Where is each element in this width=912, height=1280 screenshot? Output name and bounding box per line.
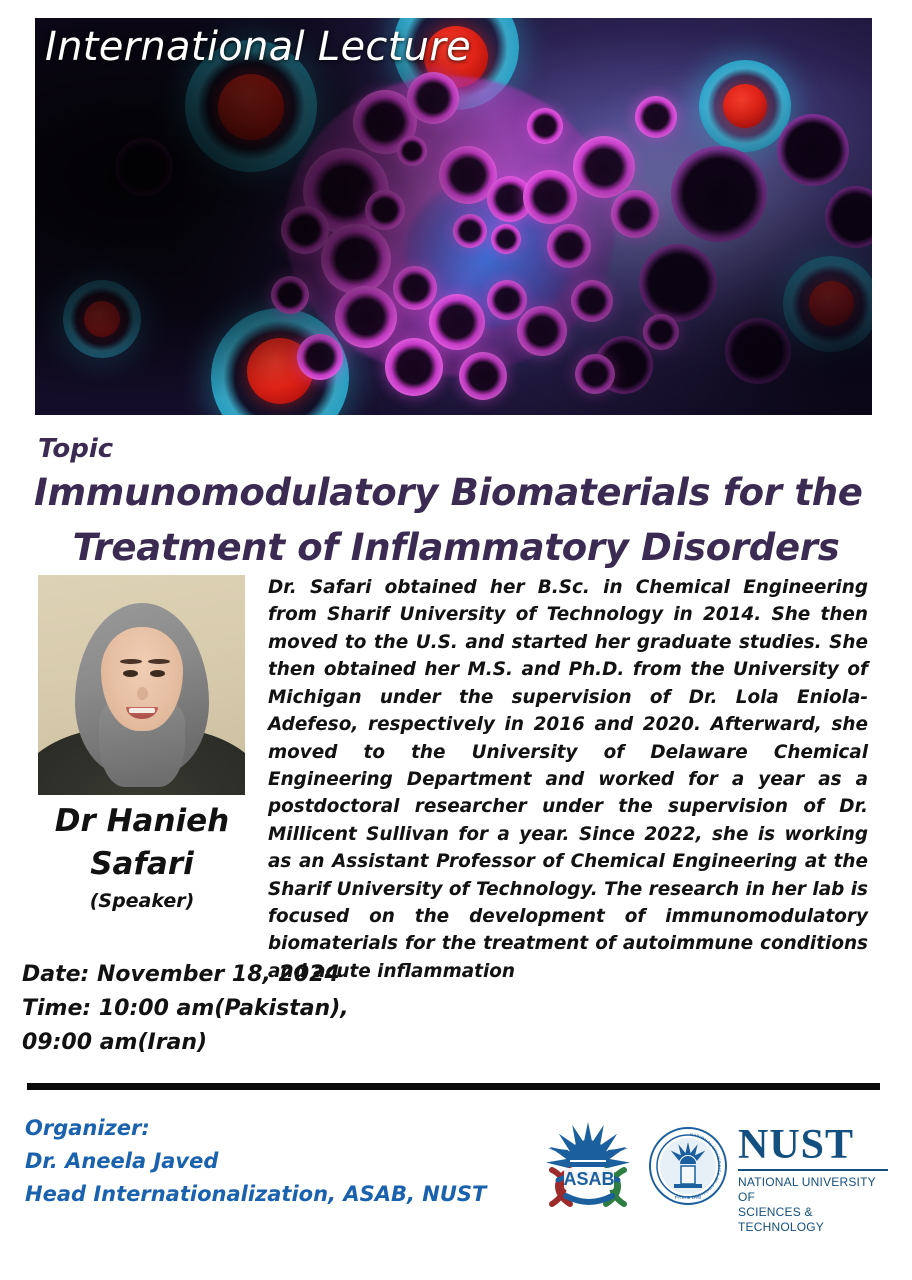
asab-logo-icon: ASAB bbox=[536, 1118, 640, 1212]
asab-logo-text: ASAB bbox=[563, 1169, 614, 1189]
schedule-time-line-1: Time: 10:00 am(Pakistan), bbox=[22, 992, 349, 1026]
schedule-block: Date: November 18, 2024 Time: 10:00 am(P… bbox=[22, 958, 349, 1060]
lecture-poster: International Lecture Topic Immunomodula… bbox=[0, 0, 912, 1280]
footer-divider bbox=[27, 1083, 880, 1090]
lecture-title-line-2: Treatment of Inflammatory Disorders bbox=[30, 521, 882, 576]
organizer-name: Dr. Aneela Javed bbox=[25, 1145, 486, 1178]
lecture-title-line-1: Immunomodulatory Biomaterials for the bbox=[30, 466, 882, 521]
speaker-bio: Dr. Safari obtained her B.Sc. in Chemica… bbox=[268, 574, 868, 985]
nust-seal-bottom-text: PAKISTAN bbox=[675, 1195, 702, 1200]
speaker-role: (Speaker) bbox=[18, 890, 266, 912]
nust-wordmark-subtitle: NATIONAL UNIVERSITY OF SCIENCES & TECHNO… bbox=[738, 1175, 890, 1235]
nust-subtitle-line-2: SCIENCES & TECHNOLOGY bbox=[738, 1205, 890, 1235]
nust-wordmark: NUST NATIONAL UNIVERSITY OF SCIENCES & T… bbox=[738, 1124, 890, 1206]
nust-wordmark-text: NUST bbox=[738, 1124, 890, 1166]
photo-eye-right bbox=[150, 670, 165, 677]
photo-eyebrow-left bbox=[120, 659, 142, 664]
topic-label: Topic bbox=[38, 434, 113, 464]
photo-eye-left bbox=[123, 670, 138, 677]
photo-teeth bbox=[129, 708, 155, 713]
photo-nose bbox=[137, 687, 148, 700]
schedule-time-line-2: 09:00 am(Iran) bbox=[22, 1026, 349, 1060]
speaker-photo bbox=[38, 575, 245, 795]
lecture-title: Immunomodulatory Biomaterials for the Tr… bbox=[30, 466, 882, 576]
banner-title: International Lecture bbox=[45, 24, 471, 70]
banner-image: International Lecture bbox=[35, 18, 872, 415]
nust-wordmark-rule bbox=[738, 1169, 888, 1171]
photo-eyebrow-right bbox=[148, 659, 170, 664]
organizer-block: Organizer: Dr. Aneela Javed Head Interna… bbox=[25, 1112, 486, 1212]
logo-group: ASAB NATIONAL U bbox=[530, 1112, 890, 1216]
schedule-date: Date: November 18, 2024 bbox=[22, 958, 349, 992]
organizer-label: Organizer: bbox=[25, 1112, 486, 1145]
nust-seal-icon: NATIONAL UNIVERSITY OF SCIENCES & TECHNO… bbox=[648, 1126, 728, 1206]
speaker-name: Dr Hanieh Safari bbox=[18, 800, 266, 886]
organizer-title: Head Internationalization, ASAB, NUST bbox=[25, 1178, 486, 1211]
banner-vignette bbox=[35, 18, 872, 415]
nust-subtitle-line-1: NATIONAL UNIVERSITY OF bbox=[738, 1175, 890, 1205]
